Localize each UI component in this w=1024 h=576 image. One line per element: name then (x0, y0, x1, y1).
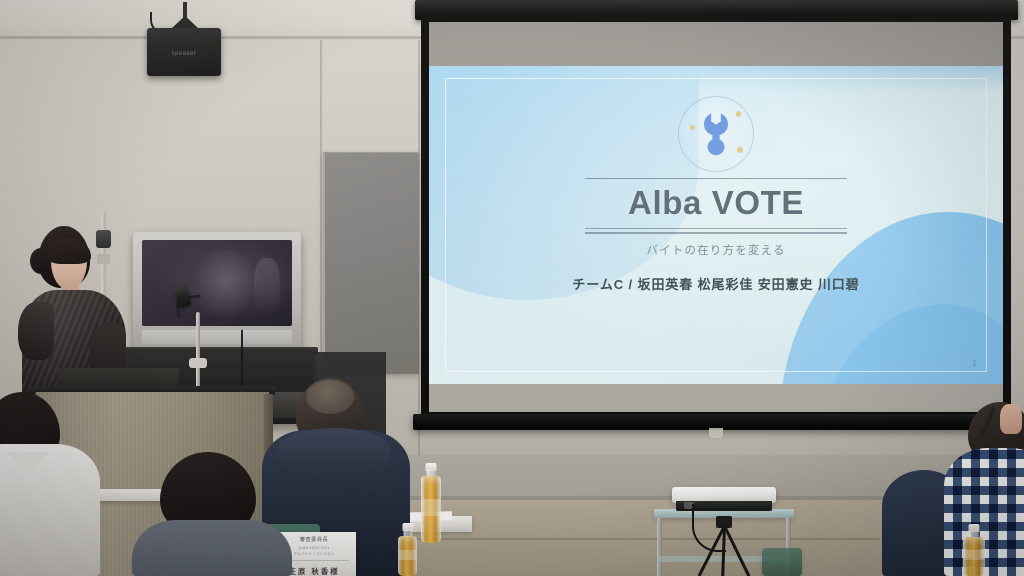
logo-circle (678, 96, 754, 172)
projection-screen: Alba VOTE バイトの在り方を変える チームC / 坂田英春 松尾彩佳 安… (413, 0, 1024, 440)
title-rule-top (585, 178, 847, 179)
audience-member-right-hand (1000, 404, 1022, 434)
cart-leg (657, 518, 662, 576)
tea-bottle (398, 523, 417, 576)
projected-slide: Alba VOTE バイトの在り方を変える チームC / 坂田英春 松尾彩佳 安… (429, 66, 1003, 384)
tea-bottle (421, 463, 441, 543)
tv-screen (142, 240, 292, 326)
wall-panel (323, 152, 419, 374)
title-rule-bottom (585, 228, 847, 234)
wrench-icon (703, 112, 729, 156)
bottle-body (963, 537, 985, 576)
audience-member-center-scalp (306, 380, 354, 414)
screen-surface: Alba VOTE バイトの在り方を変える チームC / 坂田英春 松尾彩佳 安… (429, 22, 1003, 412)
presenter-shoulder (18, 302, 54, 360)
bottle-label (422, 499, 440, 516)
green-chair (762, 548, 802, 576)
logo-dot (690, 125, 695, 130)
bottle-body (421, 476, 441, 543)
tea-bottle (963, 524, 985, 576)
audience-member-front-center-left (132, 520, 292, 576)
slide-team-line: チームC / 坂田英春 松尾彩佳 安田憲史 川口碧 (496, 274, 936, 293)
screen-pull-tab (709, 428, 723, 438)
logo-dot (737, 147, 743, 153)
bottle-label (399, 550, 416, 560)
tripod-leg (723, 525, 750, 576)
tv-reflection (194, 250, 256, 320)
slide-subtitle: バイトの在り方を変える (566, 242, 866, 258)
logo-dot (736, 111, 742, 117)
bottle-body (398, 536, 417, 576)
speaker-logo: speaker (172, 51, 197, 57)
camera-tripod (700, 516, 748, 576)
slide-title: Alba VOTE (566, 185, 866, 221)
bottle-label (964, 550, 983, 560)
hoodie-hood (278, 428, 390, 470)
ceiling-speaker: speaker (147, 28, 221, 76)
slide-page-number: 1 (973, 359, 977, 368)
tv-reflection-2 (254, 258, 280, 316)
audience-member-front-left (0, 444, 100, 576)
presentation-room-photo: speaker (0, 0, 1024, 576)
slide-title-block: Alba VOTE バイトの在り方を変える (566, 178, 866, 258)
